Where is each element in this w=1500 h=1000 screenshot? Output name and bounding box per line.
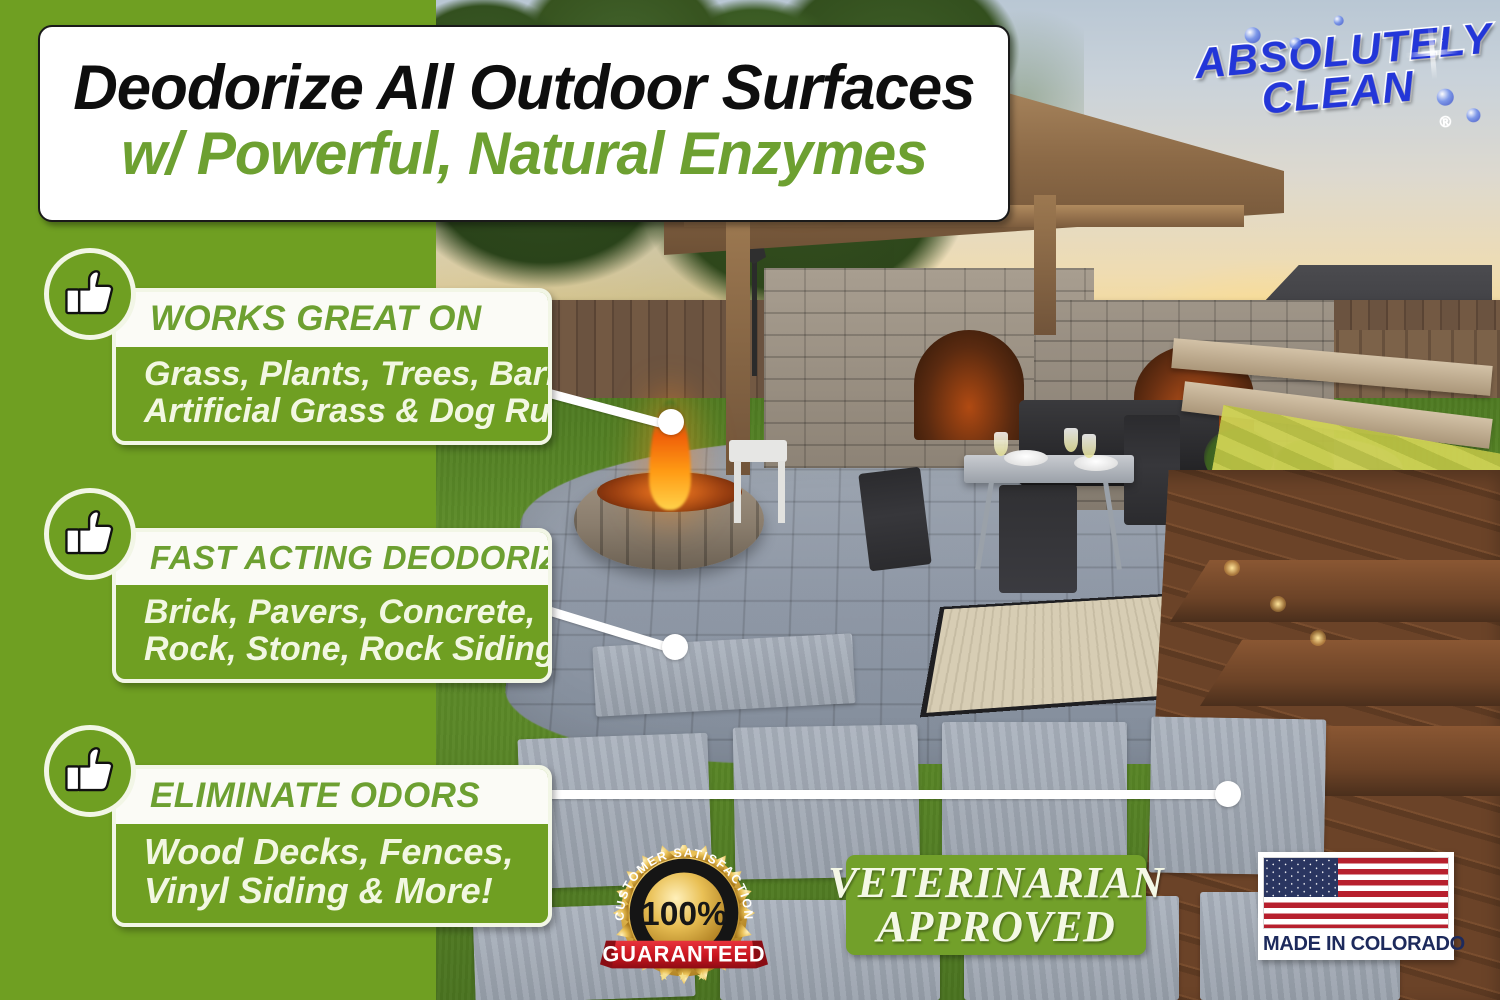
deck-accent-light (1224, 560, 1240, 576)
deck-accent-light (1310, 630, 1326, 646)
headline-banner: Deodorize All Outdoor Surfaces w/ Powerf… (38, 25, 1010, 222)
wine-glass (1064, 428, 1078, 452)
dinner-plate (1074, 455, 1118, 471)
thumbs-up-icon (44, 488, 136, 580)
dinner-plate (1004, 450, 1048, 466)
patio-chair (858, 467, 931, 572)
seal-ribbon-text: GUARANTEED (602, 941, 765, 966)
callout-connector-3 (515, 790, 1255, 820)
connector-dot (1215, 781, 1241, 807)
pavilion-post-left (726, 220, 750, 475)
us-flag-icon (1263, 857, 1449, 929)
thumbs-up-icon (44, 248, 136, 340)
headline-line-1: Deodorize All Outdoor Surfaces (73, 56, 974, 120)
flag-stars (1264, 858, 1338, 897)
wine-glass (994, 432, 1008, 456)
feature-title: FAST ACTING DEODORIZER (116, 532, 548, 585)
connector-dot (662, 634, 688, 660)
wine-glass (1082, 434, 1096, 458)
made-in-colorado-label: MADE IN COLORADO (1263, 933, 1449, 956)
headline-line-2: w/ Powerful, Natural Enzymes (121, 122, 927, 186)
feature-body: Grass, Plants, Trees, Bark, Artificial G… (116, 347, 548, 441)
patio-stool-seat (729, 440, 787, 462)
seal-percent: 100% (641, 896, 727, 933)
feature-body-line: Grass, Plants, Trees, Bark, (144, 356, 536, 393)
satisfaction-guarantee-seal: CUSTOMER SATISFACTION 100% GUARANTEED ★ … (600, 845, 768, 985)
patio-stool-leg (734, 461, 741, 523)
feature-body-line: Brick, Pavers, Concrete, (144, 594, 536, 631)
feature-card: FAST ACTING DEODORIZER Brick, Pavers, Co… (112, 528, 552, 683)
feature-body-line: Vinyl Siding & More! (144, 872, 536, 911)
seal-stars: ★ ★ ★ (659, 971, 709, 983)
patio-stool-leg (778, 461, 785, 523)
feature-title: WORKS GREAT ON (116, 292, 548, 347)
feature-body: Brick, Pavers, Concrete, Rock, Stone, Ro… (116, 585, 548, 679)
feature-body-line: Wood Decks, Fences, (144, 833, 536, 872)
lamp-post (752, 248, 757, 376)
feature-body: Wood Decks, Fences, Vinyl Siding & More! (116, 824, 548, 923)
deck-step (1170, 560, 1500, 622)
thumbs-up-icon (44, 725, 136, 817)
made-in-colorado-badge: MADE IN COLORADO (1258, 852, 1454, 960)
fireplace-hearth (914, 330, 1024, 440)
veterinarian-approved-badge: VETERINARIAN APPROVED (846, 855, 1146, 955)
vet-line-2: APPROVED (877, 905, 1116, 949)
pavilion-post-right (1034, 195, 1056, 335)
flag-canton (1264, 858, 1338, 897)
infographic-canvas: Deodorize All Outdoor Surfaces w/ Powerf… (0, 0, 1500, 1000)
deck-accent-light (1270, 596, 1286, 612)
feature-body-line: Rock, Stone, Rock Siding (144, 631, 536, 668)
deck-step (1200, 640, 1500, 706)
connector-dot (658, 409, 684, 435)
callout-connector-2 (528, 600, 708, 660)
feature-card: WORKS GREAT ON Grass, Plants, Trees, Bar… (112, 288, 552, 445)
patio-chair (999, 485, 1077, 593)
feature-title: ELIMINATE ODORS (116, 769, 548, 824)
feature-card: ELIMINATE ODORS Wood Decks, Fences, Viny… (112, 765, 552, 927)
vet-line-1: VETERINARIAN (828, 861, 1164, 905)
connector-line (515, 790, 1227, 799)
feature-body-line: Artificial Grass & Dog Runs (144, 393, 536, 430)
